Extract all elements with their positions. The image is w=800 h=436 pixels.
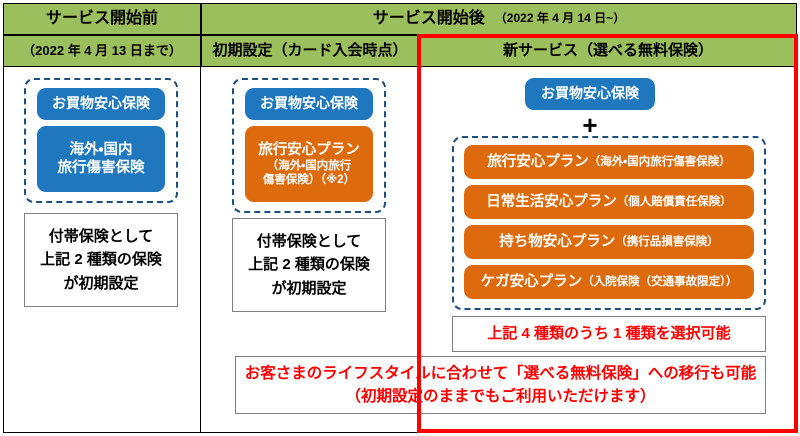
before-travel-insurance-line2: 旅行傷害保険 <box>58 159 145 177</box>
initial-travel-plan-title: 旅行安心プラン <box>258 141 360 159</box>
plan-option-injury-title: ケガ安心プラン <box>481 273 583 291</box>
before-shopping-insurance-label: お買物安心保険 <box>52 95 150 113</box>
initial-setting-note-line2: 上記 2 種類の保険 <box>248 253 370 276</box>
migration-note-banner: お客さまのライフスタイルに合わせて「選べる無料保険」への移行も可能 （初期設定の… <box>235 356 766 414</box>
initial-travel-plan-line2: （海外・国内旅行 <box>267 159 351 173</box>
select-one-of-four-note: 上記 4 種類のうち 1 種類を選択可能 <box>452 316 766 352</box>
plan-option-daily-life-title: 日常生活安心プラン <box>486 193 617 211</box>
header-after-service-label: サービス開始後 <box>373 10 485 28</box>
plan-option-injury-sub: （入院保険（交通事故限定）） <box>582 275 737 289</box>
migration-note-line1: お客さまのライフスタイルに合わせて「選べる無料保険」への移行も可能 <box>245 362 757 385</box>
header-initial-setting: 初期設定（カード入会時点） <box>201 35 419 67</box>
column-separator-1 <box>200 67 201 433</box>
header-after-service-date-label: （2022 年 4 月 14 日~） <box>495 12 625 25</box>
plan-option-travel-title: 旅行安心プラン <box>487 153 589 171</box>
initial-travel-plan-pill: 旅行安心プラン （海外・国内旅行 傷害保険）（※2） <box>245 126 373 202</box>
new-shopping-insurance-pill: お買物安心保険 <box>525 78 655 110</box>
initial-shopping-insurance-label: お買物安心保険 <box>260 95 358 113</box>
header-before-service-date: （2022 年 4 月 13 日まで） <box>3 35 201 67</box>
plan-option-injury[interactable]: ケガ安心プラン （入院保険（交通事故限定）） <box>464 265 754 299</box>
before-service-note: 付帯保険として 上記 2 種類の保険 が初期設定 <box>24 213 178 307</box>
header-new-service-label: 新サービス（選べる無料保険） <box>503 43 713 60</box>
plan-option-belongings[interactable]: 持ち物安心プラン （携行品損害保険） <box>464 225 754 259</box>
plan-option-daily-life-sub: （個人賠償責任保険） <box>617 195 732 209</box>
before-service-note-line3: が初期設定 <box>40 272 162 295</box>
plus-icon: + <box>525 112 655 138</box>
select-one-of-four-label: 上記 4 種類のうち 1 種類を選択可能 <box>487 322 730 345</box>
header-before-service-date-label: （2022 年 4 月 13 日まで） <box>22 44 182 58</box>
plan-option-belongings-title: 持ち物安心プラン <box>499 233 615 251</box>
plan-option-belongings-sub: （携行品損害保険） <box>615 235 719 249</box>
initial-shopping-insurance-pill: お買物安心保険 <box>245 88 373 120</box>
initial-travel-plan-line3: 傷害保険）（※2） <box>263 173 355 187</box>
new-shopping-insurance-label: お買物安心保険 <box>541 85 639 103</box>
header-before-service-label: サービス開始前 <box>46 10 158 28</box>
header-initial-setting-label: 初期設定（カード入会時点） <box>212 43 407 60</box>
migration-note-line2: （初期設定のままでもご利用いただけます） <box>345 385 655 408</box>
plan-option-travel-sub: （海外・国内旅行傷害保険） <box>589 155 731 169</box>
plan-option-daily-life[interactable]: 日常生活安心プラン （個人賠償責任保険） <box>464 185 754 219</box>
before-travel-insurance-line1: 海外・国内 <box>70 141 133 159</box>
header-after-service: サービス開始後 （2022 年 4 月 14 日~） <box>201 3 797 35</box>
initial-setting-note-line1: 付帯保険として <box>248 230 370 253</box>
insurance-comparison-diagram: サービス開始前 （2022 年 4 月 13 日まで） サービス開始後 （202… <box>0 0 800 436</box>
before-travel-insurance-pill: 海外・国内 旅行傷害保険 <box>37 126 165 192</box>
before-shopping-insurance-pill: お買物安心保険 <box>37 88 165 120</box>
plan-option-travel[interactable]: 旅行安心プラン （海外・国内旅行傷害保険） <box>464 145 754 179</box>
header-new-service: 新サービス（選べる無料保険） <box>419 35 797 67</box>
before-service-note-line2: 上記 2 種類の保険 <box>40 248 162 271</box>
header-before-service: サービス開始前 <box>3 3 201 35</box>
before-service-note-line1: 付帯保険として <box>40 225 162 248</box>
initial-setting-note-line3: が初期設定 <box>248 277 370 300</box>
initial-setting-note: 付帯保険として 上記 2 種類の保険 が初期設定 <box>232 218 386 312</box>
